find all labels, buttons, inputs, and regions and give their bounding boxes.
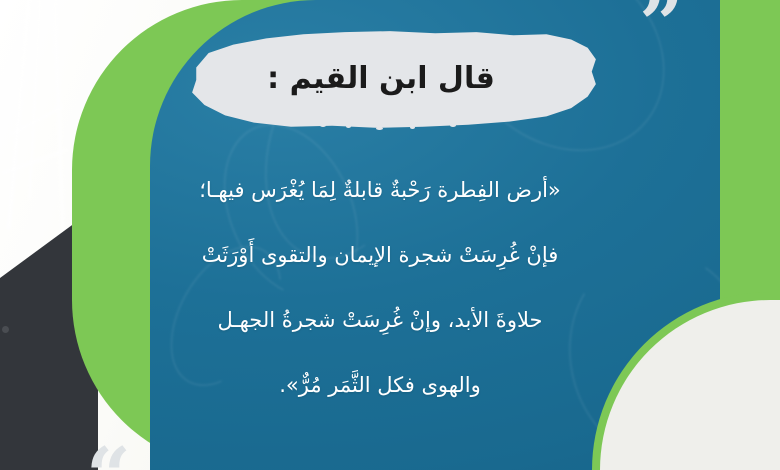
- quote-line: فإنْ غُرِسَتْ شجرة الإيمان والتقوى أَوْر…: [100, 223, 660, 288]
- quote-line: حلاوةَ الأبد، وإنْ غُرِسَتْ شجرةُ الجهـل: [100, 288, 660, 353]
- quote-line: «أرض الفِطرة رَحْبةٌ قابلةٌ لِمَا يُغْرَ…: [100, 158, 660, 223]
- title-banner: قال ابن القيم :: [188, 28, 600, 132]
- poster-canvas: ” “ قال ابن القيم : «أرض الفِطرة رَحْبةٌ…: [0, 0, 780, 470]
- quote-mark-closing-icon: ”: [639, 0, 684, 64]
- texture-streak: [9, 106, 63, 136]
- texture-streak: [2, 148, 69, 175]
- page-title: قال ابن القيم :: [188, 28, 600, 132]
- quote-text-block: «أرض الفِطرة رَحْبةٌ قابلةٌ لِمَا يُغْرَ…: [100, 158, 660, 418]
- texture-streak: [29, 0, 42, 200]
- texture-streak: [7, 0, 32, 230]
- quote-mark-opening-icon: “: [86, 438, 131, 470]
- wedge-dot-icon: [2, 326, 9, 333]
- quote-line: والهوى فكل الثَّمَر مُرٌّ».: [100, 353, 660, 418]
